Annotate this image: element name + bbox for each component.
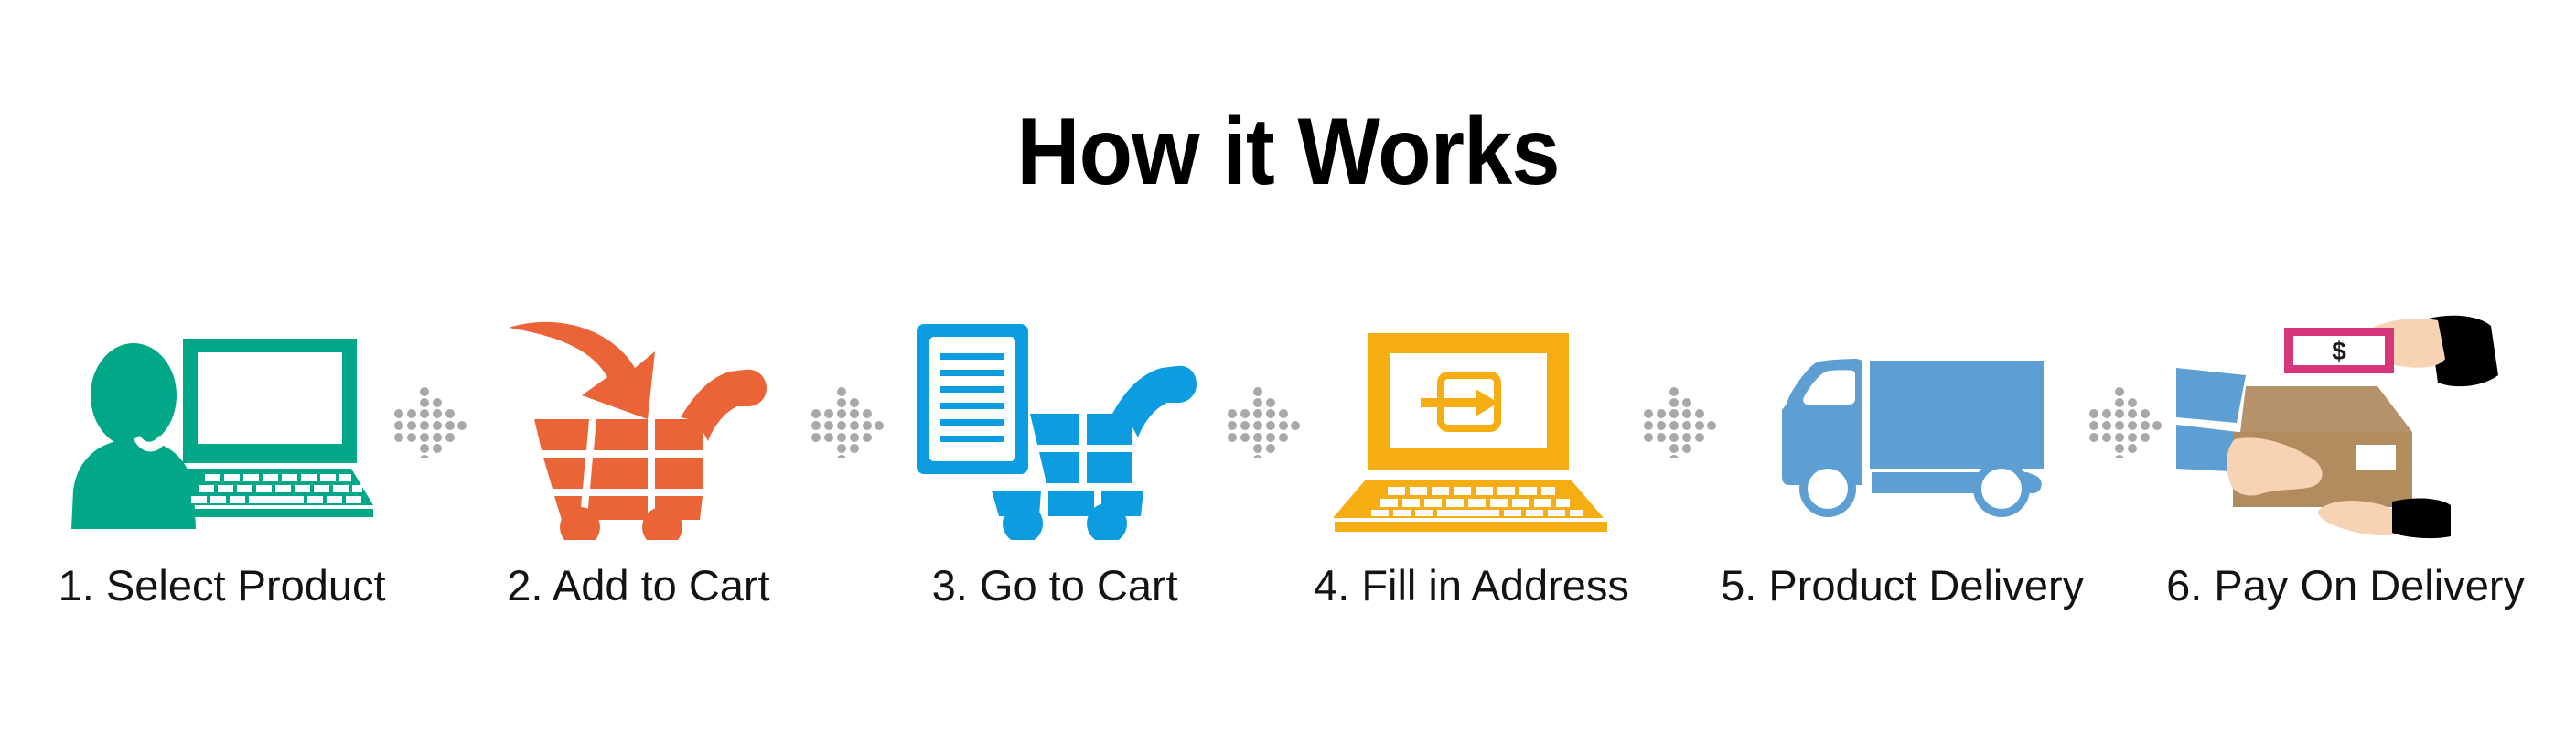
person-with-laptop-icon [71, 311, 373, 540]
box-label [2356, 445, 2396, 470]
step-3-label: 3. Go to Cart [932, 562, 1178, 610]
step-1-select-product[interactable]: 1. Select Product [55, 302, 389, 610]
dotted-arrow-right-icon [1643, 384, 1716, 458]
document-with-cart-icon [913, 311, 1197, 540]
sleeve-blue-upper [2176, 368, 2246, 423]
step-4-fill-in-address[interactable]: 4. Fill in Address [1304, 302, 1638, 610]
step-6-pay-on-delivery[interactable]: $ 6. Pa [2166, 302, 2525, 610]
banknote: $ [2284, 328, 2394, 373]
steps-row: 1. Select Product [55, 302, 2525, 610]
dotted-arrow-right-icon [393, 384, 467, 458]
step-4-label: 4. Fill in Address [1314, 562, 1629, 610]
step-2-icon-wrap [501, 302, 776, 540]
step-5-product-delivery[interactable]: 5. Product Delivery [1721, 302, 2084, 610]
step-3-icon-wrap [913, 302, 1197, 540]
separator-arrow-2 [806, 302, 888, 540]
step-5-icon-wrap [1756, 302, 2049, 540]
step-6-label: 6. Pay On Delivery [2166, 562, 2525, 610]
delivery-truck-icon [1756, 311, 2049, 540]
dotted-arrow-right-icon [810, 384, 884, 458]
step-1-label: 1. Select Product [59, 562, 386, 610]
sleeve-black-lower [2392, 499, 2451, 539]
separator-arrow-3 [1222, 302, 1304, 540]
step-3-go-to-cart[interactable]: 3. Go to Cart [888, 302, 1222, 610]
separator-arrow-1 [389, 302, 471, 540]
step-1-icon-wrap [71, 302, 373, 540]
step-2-label: 2. Add to Cart [507, 562, 769, 610]
step-4-icon-wrap [1329, 302, 1613, 540]
hands-box-and-money-icon: $ [2176, 311, 2515, 540]
separator-arrow-4 [1638, 302, 1721, 540]
dotted-arrow-right-icon [2088, 384, 2162, 458]
step-6-icon-wrap: $ [2176, 302, 2515, 540]
page-title: How it Works [103, 103, 2474, 202]
money-symbol: $ [2332, 337, 2346, 365]
step-2-add-to-cart[interactable]: 2. Add to Cart [471, 302, 805, 610]
laptop-with-login-arrow-icon [1329, 311, 1613, 540]
dotted-arrow-right-icon [1227, 384, 1300, 458]
shopping-cart-with-arrow-icon [501, 311, 776, 540]
how-it-works-infographic: How it Works [0, 0, 2576, 745]
separator-arrow-5 [2084, 302, 2166, 540]
step-5-label: 5. Product Delivery [1721, 562, 2084, 610]
